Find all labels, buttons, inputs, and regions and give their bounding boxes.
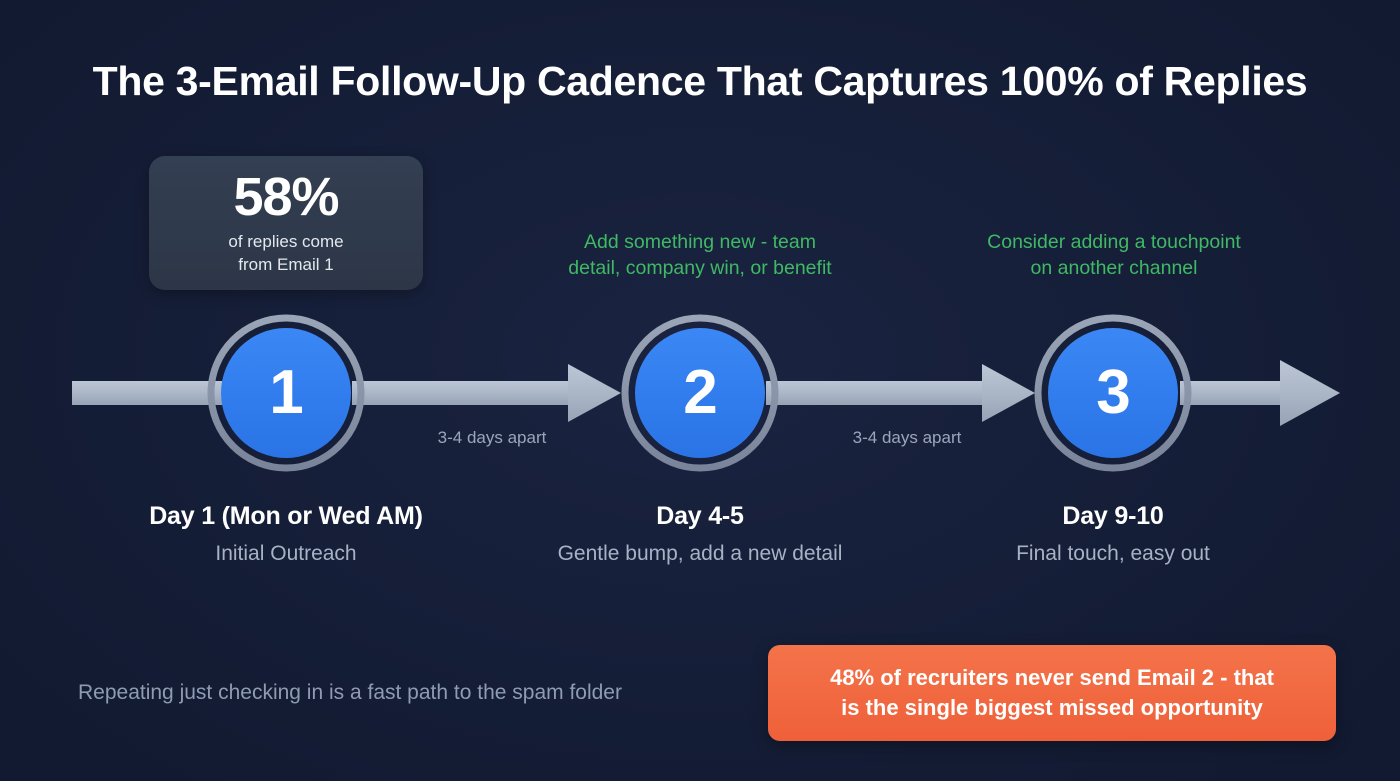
step-caption-3: Day 9-10 Final touch, easy out xyxy=(913,502,1313,566)
step-subtitle-1: Initial Outreach xyxy=(86,542,486,566)
step-subtitle-2: Gentle bump, add a new detail xyxy=(500,542,900,566)
gap-label-2-3: 3-4 days apart xyxy=(797,428,1017,448)
timeline-segment-start xyxy=(72,381,222,405)
step-caption-1: Day 1 (Mon or Wed AM) Initial Outreach xyxy=(86,502,486,566)
node-number-2: 2 xyxy=(622,315,778,471)
step-caption-2: Day 4-5 Gentle bump, add a new detail xyxy=(500,502,900,566)
step-title-3: Day 9-10 xyxy=(913,502,1313,531)
step-subtitle-3: Final touch, easy out xyxy=(913,542,1313,566)
gap-label-1-2: 3-4 days apart xyxy=(382,428,602,448)
step-title-2: Day 4-5 xyxy=(500,502,900,531)
callout-line1: 48% of recruiters never send Email 2 - t… xyxy=(830,665,1274,690)
callout-text: 48% of recruiters never send Email 2 - t… xyxy=(814,663,1290,723)
node-number-1: 1 xyxy=(208,315,364,471)
callout-line2: is the single biggest missed opportunity xyxy=(841,695,1263,720)
timeline-segment-2-3 xyxy=(766,381,990,405)
timeline-segment-end xyxy=(1180,381,1286,405)
footer-note: Repeating just checking in is a fast pat… xyxy=(78,681,622,705)
timeline-segment-1-2 xyxy=(352,381,576,405)
step-title-1: Day 1 (Mon or Wed AM) xyxy=(86,502,486,531)
arrow-head-end xyxy=(1280,360,1340,426)
infographic-canvas: The 3-Email Follow-Up Cadence That Captu… xyxy=(0,0,1400,781)
arrow-head-2-3 xyxy=(982,364,1035,422)
node-number-3: 3 xyxy=(1035,315,1191,471)
callout-missed-opportunity: 48% of recruiters never send Email 2 - t… xyxy=(768,645,1336,741)
arrow-head-1-2 xyxy=(568,364,621,422)
